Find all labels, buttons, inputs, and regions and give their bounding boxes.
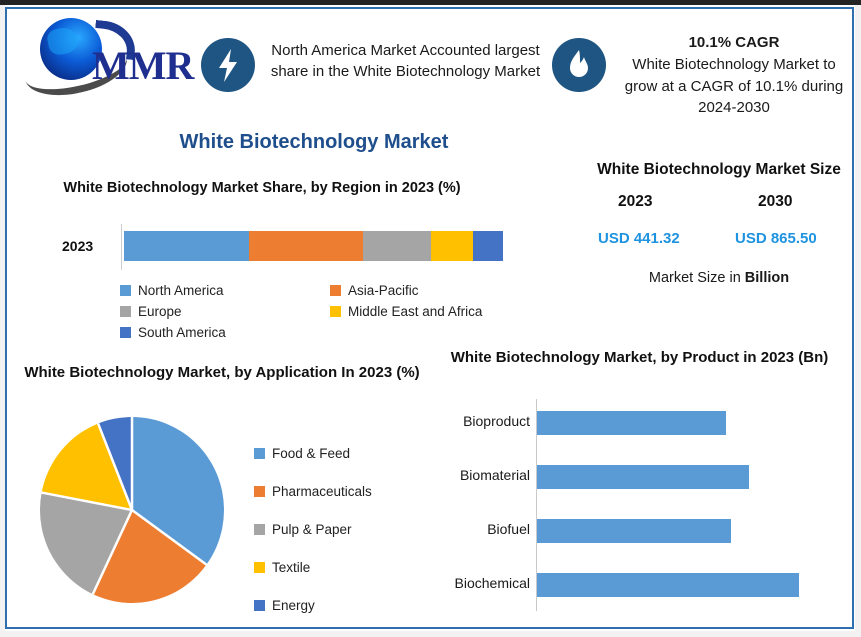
header-highlight-right-text: 10.1% CAGR White Biotechnology Market to… bbox=[614, 32, 854, 118]
legend-swatch-pulp-paper bbox=[254, 524, 265, 535]
product-label-biomaterial: Biomaterial bbox=[460, 467, 530, 483]
region-segment-north-america bbox=[124, 231, 249, 261]
mmr-logo: MMR bbox=[18, 14, 193, 86]
legend-label: South America bbox=[138, 325, 226, 340]
legend-swatch-middle-east-africa bbox=[330, 306, 341, 317]
legend-item: Europe bbox=[120, 301, 330, 322]
legend-item: South America bbox=[120, 322, 330, 343]
application-pie-chart: White Biotechnology Market, by Applicati… bbox=[22, 362, 442, 385]
market-size-values: USD 441.32 USD 865.50 bbox=[590, 230, 848, 252]
page-title: White Biotechnology Market bbox=[0, 131, 628, 154]
region-stacked-bar bbox=[124, 231, 503, 261]
region-segment-middle-east-africa bbox=[431, 231, 473, 261]
chart-row: Biofuel bbox=[432, 507, 852, 561]
market-size-title: White Biotechnology Market Size bbox=[590, 158, 848, 181]
legend-item: Food & Feed bbox=[254, 434, 434, 472]
market-size-footer-prefix: Market Size in bbox=[649, 270, 745, 286]
product-chart-title: White Biotechnology Market, by Product i… bbox=[432, 347, 847, 370]
chart-row: Bioproduct bbox=[432, 399, 852, 453]
legend-label: Asia-Pacific bbox=[348, 283, 419, 298]
header-highlight-left-text: North America Market Accounted largest s… bbox=[268, 40, 543, 83]
legend-swatch-energy bbox=[254, 600, 265, 611]
product-bar-biochemical bbox=[537, 573, 799, 597]
region-axis-line bbox=[121, 224, 122, 270]
market-size-years: 2023 2030 bbox=[590, 193, 848, 215]
market-size-year-end: 2030 bbox=[758, 193, 792, 211]
legend-swatch-south-america bbox=[120, 327, 131, 338]
product-bar-biomaterial bbox=[537, 465, 749, 489]
legend-label: Pharmaceuticals bbox=[272, 484, 372, 499]
bottom-margin-shade bbox=[0, 631, 861, 637]
region-segment-europe bbox=[363, 231, 431, 261]
legend-label: Europe bbox=[138, 304, 182, 319]
market-size-footer-unit: Billion bbox=[745, 270, 789, 286]
pie-plot-area bbox=[40, 417, 224, 603]
legend-item: Pulp & Paper bbox=[254, 510, 434, 548]
market-size-footer: Market Size in Billion bbox=[590, 270, 848, 286]
product-label-biofuel: Biofuel bbox=[487, 521, 530, 537]
legend-label: North America bbox=[138, 283, 224, 298]
pie-legend: Food & Feed Pharmaceuticals Pulp & Paper… bbox=[254, 434, 434, 624]
legend-swatch-pharmaceuticals bbox=[254, 486, 265, 497]
legend-swatch-europe bbox=[120, 306, 131, 317]
infographic-canvas: MMR North America Market Accounted large… bbox=[0, 0, 861, 637]
legend-label: Textile bbox=[272, 560, 310, 575]
flame-icon bbox=[552, 38, 606, 92]
right-margin-shade bbox=[855, 5, 861, 637]
legend-item: Middle East and Africa bbox=[330, 301, 540, 322]
pie-chart-title: White Biotechnology Market, by Applicati… bbox=[22, 362, 422, 385]
market-size-value-end: USD 865.50 bbox=[735, 230, 817, 247]
region-segment-south-america bbox=[473, 231, 503, 261]
product-bar-biofuel bbox=[537, 519, 731, 543]
legend-label: Middle East and Africa bbox=[348, 304, 482, 319]
legend-item: North America bbox=[120, 280, 330, 301]
lightning-bolt-icon bbox=[201, 38, 255, 92]
legend-label: Energy bbox=[272, 598, 315, 613]
cagr-headline: 10.1% CAGR bbox=[614, 32, 854, 53]
region-plot-area: 2023 bbox=[40, 224, 510, 270]
legend-swatch-north-america bbox=[120, 285, 131, 296]
chart-row: Biochemical bbox=[432, 561, 852, 615]
legend-item: Asia-Pacific bbox=[330, 280, 540, 301]
region-category-label: 2023 bbox=[62, 238, 93, 254]
region-legend: North America Asia-Pacific Europe Middle… bbox=[120, 280, 540, 343]
legend-swatch-asia-pacific bbox=[330, 285, 341, 296]
legend-swatch-textile bbox=[254, 562, 265, 573]
legend-label: Food & Feed bbox=[272, 446, 350, 461]
legend-item: Energy bbox=[254, 586, 434, 624]
legend-label: Pulp & Paper bbox=[272, 522, 352, 537]
legend-swatch-food-feed bbox=[254, 448, 265, 459]
logo-wordmark: MMR bbox=[92, 42, 193, 89]
region-share-chart: White Biotechnology Market Share, by Reg… bbox=[12, 178, 532, 199]
cagr-description: White Biotechnology Market to grow at a … bbox=[625, 56, 843, 116]
market-size-panel: White Biotechnology Market Size 2023 203… bbox=[590, 158, 848, 286]
product-bar-chart: White Biotechnology Market, by Product i… bbox=[432, 347, 852, 370]
legend-item: Textile bbox=[254, 548, 434, 586]
legend-item: Pharmaceuticals bbox=[254, 472, 434, 510]
header: MMR North America Market Accounted large… bbox=[10, 12, 849, 110]
region-chart-title: White Biotechnology Market Share, by Reg… bbox=[12, 178, 512, 199]
product-bar-bioproduct bbox=[537, 411, 726, 435]
region-segment-asia-pacific bbox=[249, 231, 363, 261]
product-label-biochemical: Biochemical bbox=[455, 575, 530, 591]
market-size-year-start: 2023 bbox=[618, 193, 652, 211]
product-plot-area: Bioproduct Biomaterial Biofuel Biochemic… bbox=[432, 399, 852, 614]
top-strip bbox=[0, 0, 861, 5]
product-label-bioproduct: Bioproduct bbox=[463, 413, 530, 429]
pie-slice-separators bbox=[40, 417, 224, 603]
market-size-value-start: USD 441.32 bbox=[598, 230, 680, 247]
chart-row: Biomaterial bbox=[432, 453, 852, 507]
